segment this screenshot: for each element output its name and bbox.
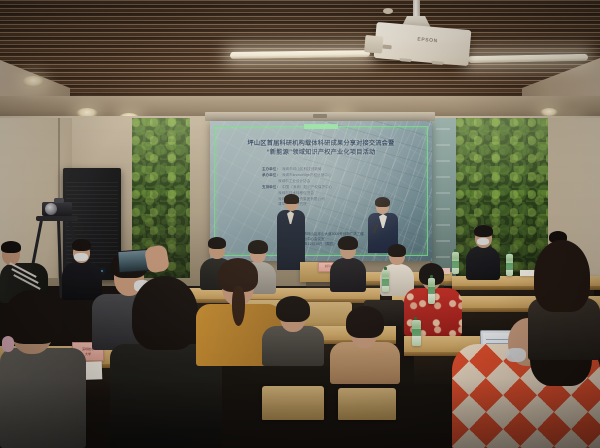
chair[interactable]	[262, 386, 324, 420]
presenter-hair	[284, 194, 299, 204]
attendee-hair	[534, 240, 590, 312]
slide-detail-value: 深圳市knowledge产权运营中心	[282, 173, 332, 178]
slide-detail-label	[262, 197, 276, 202]
slide-detail-label: 支持单位：	[262, 185, 280, 190]
slide-detail-label: 主办单位：	[262, 167, 280, 172]
attendee-hair	[338, 236, 358, 250]
presenter-person	[276, 196, 306, 270]
smoke-detector-icon	[383, 8, 393, 14]
attendee-hair	[4, 290, 62, 344]
water-bottle	[412, 320, 421, 346]
attendee-body	[330, 342, 400, 384]
earring	[2, 336, 14, 352]
slide-presenter-hair	[375, 197, 390, 207]
chair[interactable]	[338, 388, 396, 420]
attendee-far-right-woman	[528, 240, 600, 360]
attendee-second-row-center	[262, 300, 324, 366]
attendee-hair	[248, 240, 268, 254]
attendee-body	[262, 326, 324, 366]
slide-detail-row: 主办单位： 深圳市坪山区科技创新局	[262, 167, 370, 172]
slide-detail-row: 深圳市工业设计协会	[262, 179, 370, 184]
face-mask	[477, 238, 489, 245]
attendee-back-suit-man	[466, 226, 500, 280]
slide-detail-label	[262, 191, 276, 196]
slide-frame-tab	[304, 124, 338, 129]
projection-screen: 坪山区首届科研机构载体科研成果分享对接交流会暨 “新能源”领域知识产权产业化项目…	[210, 121, 432, 261]
camera-top-handle	[54, 198, 64, 203]
attendee-hair	[388, 244, 406, 257]
attendee-body	[0, 348, 86, 448]
water-bottle	[382, 270, 389, 292]
conference-room-photo: EPSON 坪山区首届科研机构载体科研成果分享对接交流会暨 “新能源”领域知识产…	[0, 0, 600, 448]
slide-detail-label	[262, 179, 276, 184]
face-mask	[74, 253, 88, 261]
slide-detail-label: 承办单位：	[262, 173, 280, 178]
hand-holding-phone	[144, 244, 170, 273]
slide-detail-value: 深圳市工业设计协会	[278, 179, 310, 184]
attendee-hair	[72, 239, 91, 251]
camera-lens-icon	[45, 203, 57, 215]
slide-detail-value: 深圳市坪山区科技创新局	[282, 167, 322, 172]
slide-detail-label	[262, 202, 276, 207]
slide-detail-row: 支持单位： 中国（深圳）知识产权保护中心	[262, 185, 370, 190]
water-bottle	[506, 254, 513, 276]
attendee-grey-vest-woman	[0, 300, 86, 448]
attendee-body	[330, 258, 366, 292]
slide-title: 坪山区首届科研机构载体科研成果分享对接交流会暨 “新能源”领域知识产权产业化项目…	[220, 139, 422, 157]
attendee-body	[466, 246, 500, 280]
attendee-mid-row-c	[330, 238, 366, 292]
slide-detail-value: 中国（深圳）知识产权保护中心	[282, 185, 332, 190]
slide-title-line-1: 坪山区首届科研机构载体科研成果分享对接交流会暨	[220, 139, 422, 148]
attendee-hair	[208, 237, 226, 249]
projector-vent	[382, 45, 391, 50]
attendee-hair	[132, 276, 198, 350]
tripod-head-plate	[36, 216, 78, 221]
face-mask	[506, 348, 526, 362]
slide-title-line-2: “新能源”领域知识产权产业化项目活动	[220, 148, 422, 157]
water-bottle	[428, 278, 435, 304]
projection-screen-housing	[205, 112, 435, 121]
ceiling-downlight	[22, 76, 44, 87]
attendee-hair	[346, 306, 384, 338]
slide-detail-row: 承办单位： 深圳市knowledge产权运营中心	[262, 173, 370, 178]
attendee-hair	[276, 296, 310, 322]
attendee-second-row-right	[330, 312, 400, 384]
projector-brand-label: EPSON	[417, 37, 438, 45]
ponytail	[232, 286, 245, 326]
attendee-hair	[474, 225, 493, 237]
attendee-hair	[1, 241, 21, 253]
